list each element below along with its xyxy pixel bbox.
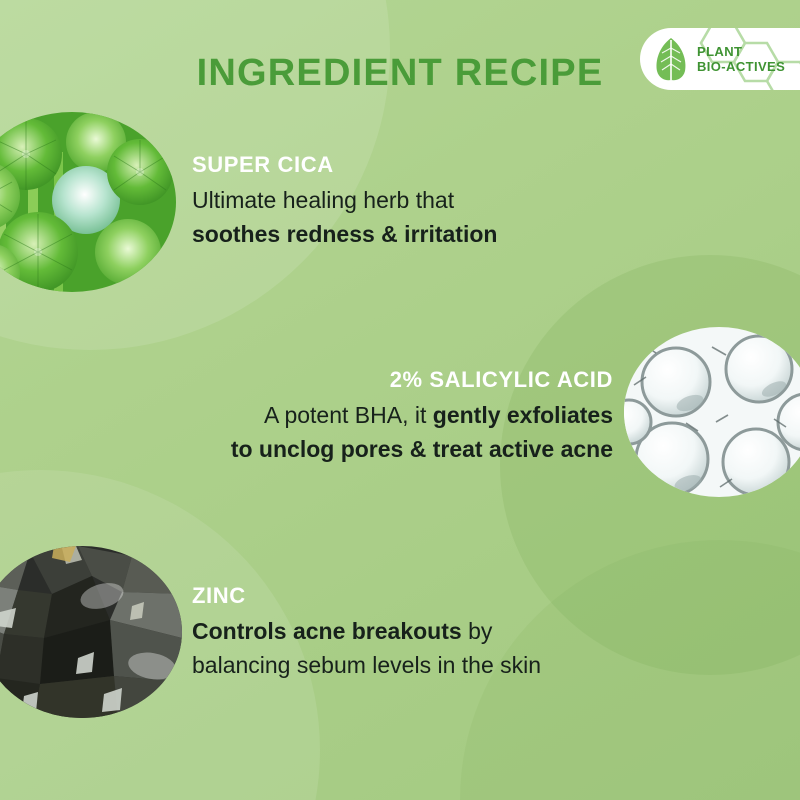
zinc-desc-plain-2: balancing sebum levels in the skin (192, 652, 541, 678)
ingredient-block-salicylic-acid: 2% SALICYLIC ACID A potent BHA, it gentl… (170, 367, 613, 466)
ingredient-name-super-cica: SUPER CICA (192, 152, 612, 178)
zinc-desc-bold: Controls acne breakouts (192, 618, 462, 644)
ingredient-name-salicylic-acid: 2% SALICYLIC ACID (170, 367, 613, 393)
ingredient-description-super-cica: Ultimate healing herb that soothes redne… (192, 183, 612, 251)
ingredient-image-salicylic-acid (624, 327, 800, 497)
sa-desc-bold-2: to unclog pores & treat active acne (231, 436, 613, 462)
salicylic-acid-crystals-photo (624, 327, 800, 497)
brand-logo-text: PLANT BIO-ACTIVES (697, 44, 785, 74)
leaf-icon (654, 37, 688, 81)
centella-leaves-photo (0, 112, 176, 292)
ingredient-description-salicylic-acid: A potent BHA, it gently exfoliates to un… (170, 398, 613, 466)
ingredient-image-zinc (0, 546, 182, 718)
brand-logo-line2: BIO-ACTIVES (697, 59, 785, 74)
ingredient-block-zinc: ZINC Controls acne breakouts by balancin… (192, 583, 632, 682)
ingredient-description-zinc: Controls acne breakouts by balancing seb… (192, 614, 632, 682)
cica-desc-plain: Ultimate healing herb that (192, 187, 454, 213)
zinc-desc-plain-1: by (462, 618, 493, 644)
ingredient-recipe-poster: INGREDIENT RECIPE PLANT BIO-ACTIVES (0, 0, 800, 800)
sa-desc-bold-1: gently exfoliates (433, 402, 613, 428)
cica-desc-bold: soothes redness & irritation (192, 221, 497, 247)
ingredient-block-super-cica: SUPER CICA Ultimate healing herb that so… (192, 152, 612, 251)
ingredient-name-zinc: ZINC (192, 583, 632, 609)
zinc-ore-photo (0, 546, 182, 718)
sa-desc-plain: A potent BHA, it (264, 402, 433, 428)
ingredient-image-super-cica (0, 112, 176, 292)
brand-logo-line1: PLANT (697, 44, 785, 59)
brand-logo: PLANT BIO-ACTIVES (640, 28, 800, 90)
